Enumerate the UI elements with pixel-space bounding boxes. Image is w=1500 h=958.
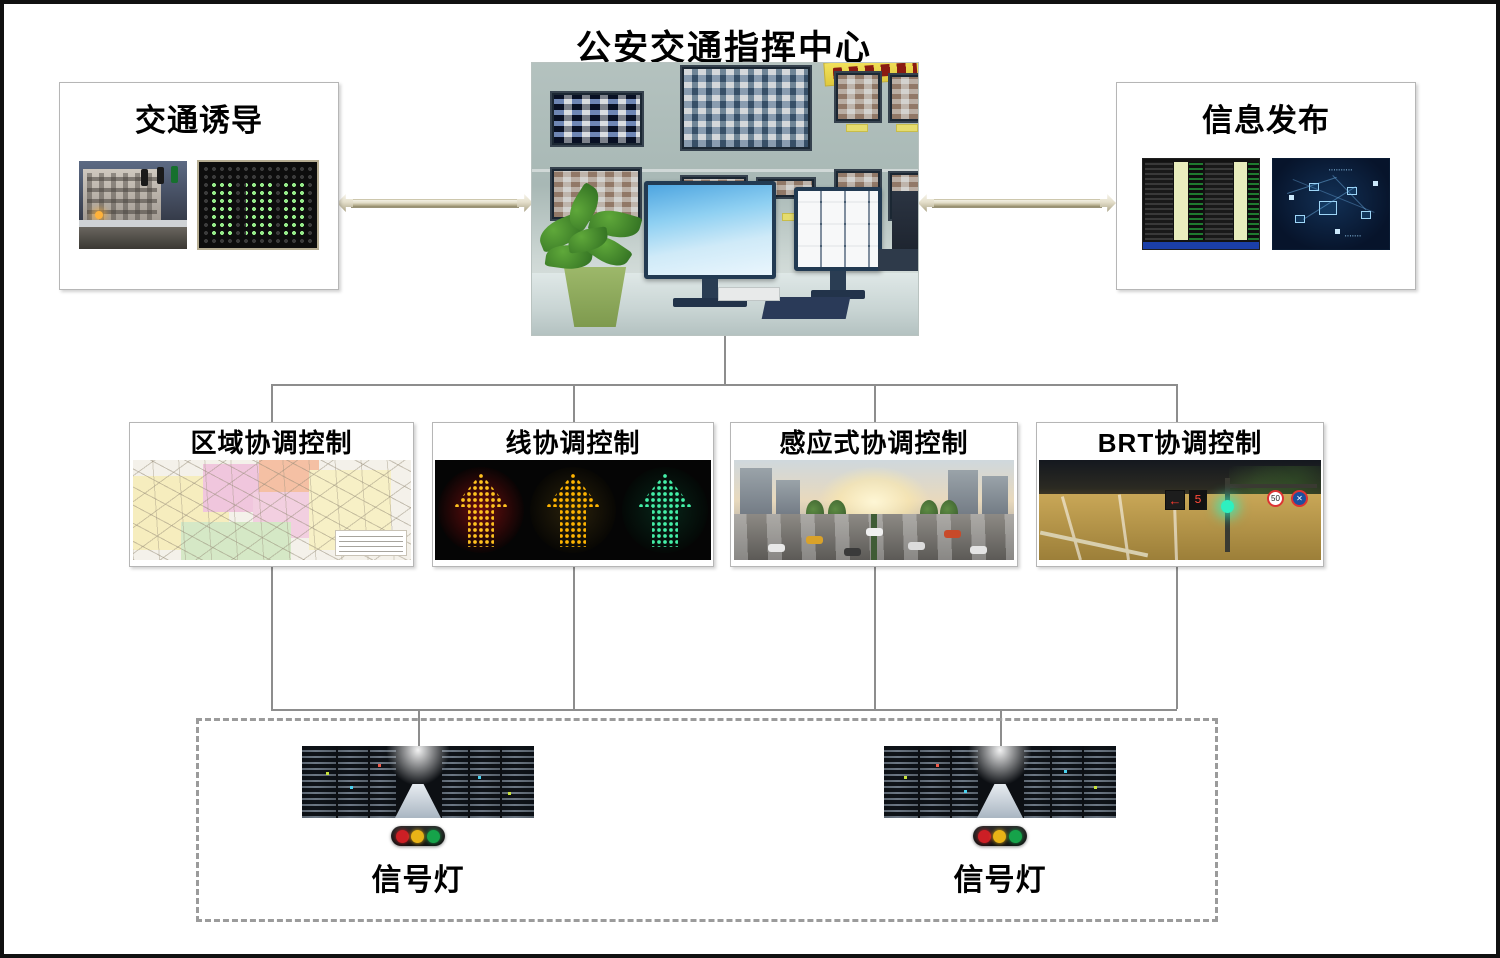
signal-green-lamp (1009, 830, 1022, 843)
control-title-actuated: 感应式协调控制 (779, 430, 968, 456)
signal-amber-lamp (411, 830, 424, 843)
green-led-matrix-display (197, 160, 319, 250)
signal-light-node-1[interactable]: 信号灯 (302, 746, 534, 899)
regional-map-thumbnail (133, 460, 411, 560)
signal-green-lamp (427, 830, 440, 843)
speed-limit-sign: 50 (1267, 490, 1284, 507)
server-room-photo (884, 746, 1116, 818)
wall-screen (888, 73, 919, 123)
signal-gantry-pole (1225, 478, 1230, 552)
connector-drop-ctrl-4 (1176, 384, 1178, 422)
signal-light-node-2[interactable]: 信号灯 (884, 746, 1116, 899)
control-box-arterial[interactable]: 线协调控制 (432, 422, 714, 567)
traffic-command-center-photo (531, 62, 919, 336)
keyboard (718, 287, 780, 301)
traffic-guidance-box[interactable]: 交通诱导 (59, 82, 339, 290)
screen-tag (896, 124, 918, 132)
amber-arrow-signal (527, 460, 619, 560)
information-board-listing (1142, 158, 1260, 250)
wall-screen (680, 65, 812, 151)
connector-ctrl-3-down (874, 567, 876, 709)
night-road-signal-thumbnail: 5 50 ✕ (1039, 460, 1321, 560)
green-signal-lamp (1221, 500, 1234, 513)
information-release-media: ▪▪▪▪▪▪▪▪▪▪ ▪▪▪▪▪▪▪ (1142, 158, 1390, 250)
connector-leaf-bus (271, 709, 1177, 711)
network-world-map-graphic: ▪▪▪▪▪▪▪▪▪▪ ▪▪▪▪▪▪▪ (1272, 158, 1390, 250)
signal-red-lamp (396, 830, 409, 843)
connector-drop-ctrl-2 (573, 384, 575, 422)
double-headed-arrow-right (918, 194, 1116, 212)
control-box-actuated[interactable]: 感应式协调控制 (730, 422, 1018, 567)
no-parking-sign: ✕ (1291, 490, 1308, 507)
signal-light-label-2: 信号灯 (954, 855, 1047, 899)
signal-light-label-1: 信号灯 (372, 855, 465, 899)
connector-control-bus (271, 384, 1177, 386)
control-box-regional[interactable]: 区域协调控制 (129, 422, 414, 567)
traffic-light-device (973, 826, 1027, 846)
signal-amber-lamp (993, 830, 1006, 843)
urban-arterial-daytime-thumbnail (734, 460, 1014, 560)
red-left-arrow-signal (1165, 490, 1185, 510)
street-intersection-photo (79, 161, 187, 249)
printer-device (878, 249, 919, 271)
traffic-guidance-title: 交通诱导 (135, 105, 263, 136)
secondary-monitor (794, 187, 882, 271)
diagram-canvas: 公安交通指挥中心 (0, 0, 1500, 958)
information-release-box[interactable]: 信息发布 (1116, 82, 1416, 290)
signal-gantry-arm (1225, 484, 1317, 488)
map-legend (335, 530, 407, 556)
led-arrow-signals-thumbnail (435, 460, 711, 560)
connector-drop-ctrl-3 (874, 384, 876, 422)
wall-screen (834, 71, 882, 123)
traffic-guidance-media (79, 160, 319, 250)
server-room-photo (302, 746, 534, 818)
signal-red-lamp (978, 830, 991, 843)
traffic-light-device (391, 826, 445, 846)
connector-ctrl-4-down (1176, 567, 1178, 709)
road-barrier (79, 220, 187, 227)
connector-ctrl-2-down (573, 567, 575, 709)
double-headed-arrow-left (337, 194, 533, 212)
control-title-brt: BRT协调控制 (1098, 430, 1262, 456)
green-arrow-signal (619, 460, 711, 560)
connector-center-down (724, 336, 726, 386)
wall-screen (550, 91, 644, 147)
control-title-arterial: 线协调控制 (505, 430, 640, 456)
information-release-title: 信息发布 (1202, 105, 1330, 136)
red-arrow-signal (435, 460, 527, 560)
primary-monitor (644, 181, 776, 279)
connector-ctrl-1-down (271, 567, 273, 709)
countdown-display: 5 (1189, 490, 1207, 510)
control-box-brt[interactable]: BRT协调控制 5 50 ✕ (1036, 422, 1324, 567)
connector-drop-ctrl-1 (271, 384, 273, 422)
control-title-regional: 区域协调控制 (190, 430, 352, 456)
office-plant (536, 177, 656, 327)
screen-tag (846, 124, 868, 132)
